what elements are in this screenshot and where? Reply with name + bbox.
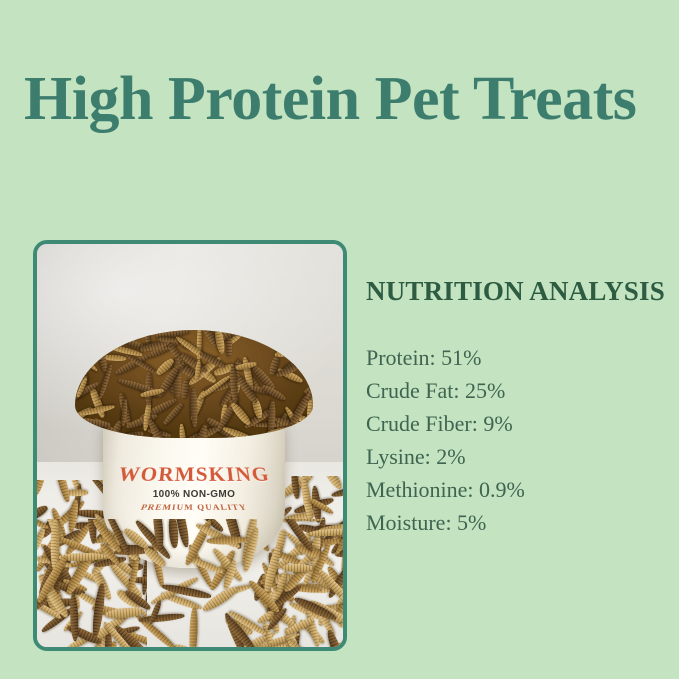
nutrition-row: Protein: 51%: [366, 341, 666, 374]
mealworm: [309, 528, 343, 537]
mealworm: [139, 613, 185, 624]
mealworm: [282, 564, 313, 572]
nutrition-row: Methionine: 0.9%: [366, 473, 666, 506]
mealworm: [91, 583, 107, 638]
brand-name-text: WORMSKING: [100, 465, 288, 485]
brand-quality-text: PREMIUM QUALITY: [100, 504, 288, 512]
mealworm: [37, 480, 49, 497]
nutrition-row: Lysine: 2%: [366, 440, 666, 473]
mealworm: [201, 584, 240, 614]
mealworm: [188, 606, 198, 647]
nutrition-row: Moisture: 5%: [366, 506, 666, 539]
mealworm: [70, 595, 80, 642]
mealworm: [229, 401, 253, 427]
nutrition-list: Protein: 51%Crude Fat: 25%Crude Fiber: 9…: [366, 341, 666, 539]
mealworm: [190, 387, 198, 427]
product-photo: WORMSKING 100% NON-GMO PREMIUM QUALITY: [37, 244, 343, 647]
nutrition-row: Crude Fat: 25%: [366, 374, 666, 407]
page-title: High Protein Pet Treats: [24, 63, 664, 135]
mealworm-scatter-front: [37, 519, 343, 647]
nutrition-panel: NUTRITION ANALYSIS Protein: 51%Crude Fat…: [366, 276, 666, 539]
product-photo-frame: WORMSKING 100% NON-GMO PREMIUM QUALITY: [33, 240, 347, 651]
brand-non-gmo-text: 100% NON-GMO: [103, 490, 285, 500]
mealworm: [322, 476, 343, 491]
nutrition-heading: NUTRITION ANALYSIS: [366, 276, 666, 307]
nutrition-row: Crude Fiber: 9%: [366, 407, 666, 440]
mealworm: [178, 424, 187, 438]
bowl-brand-lockup: WORMSKING 100% NON-GMO PREMIUM QUALITY: [103, 464, 285, 512]
